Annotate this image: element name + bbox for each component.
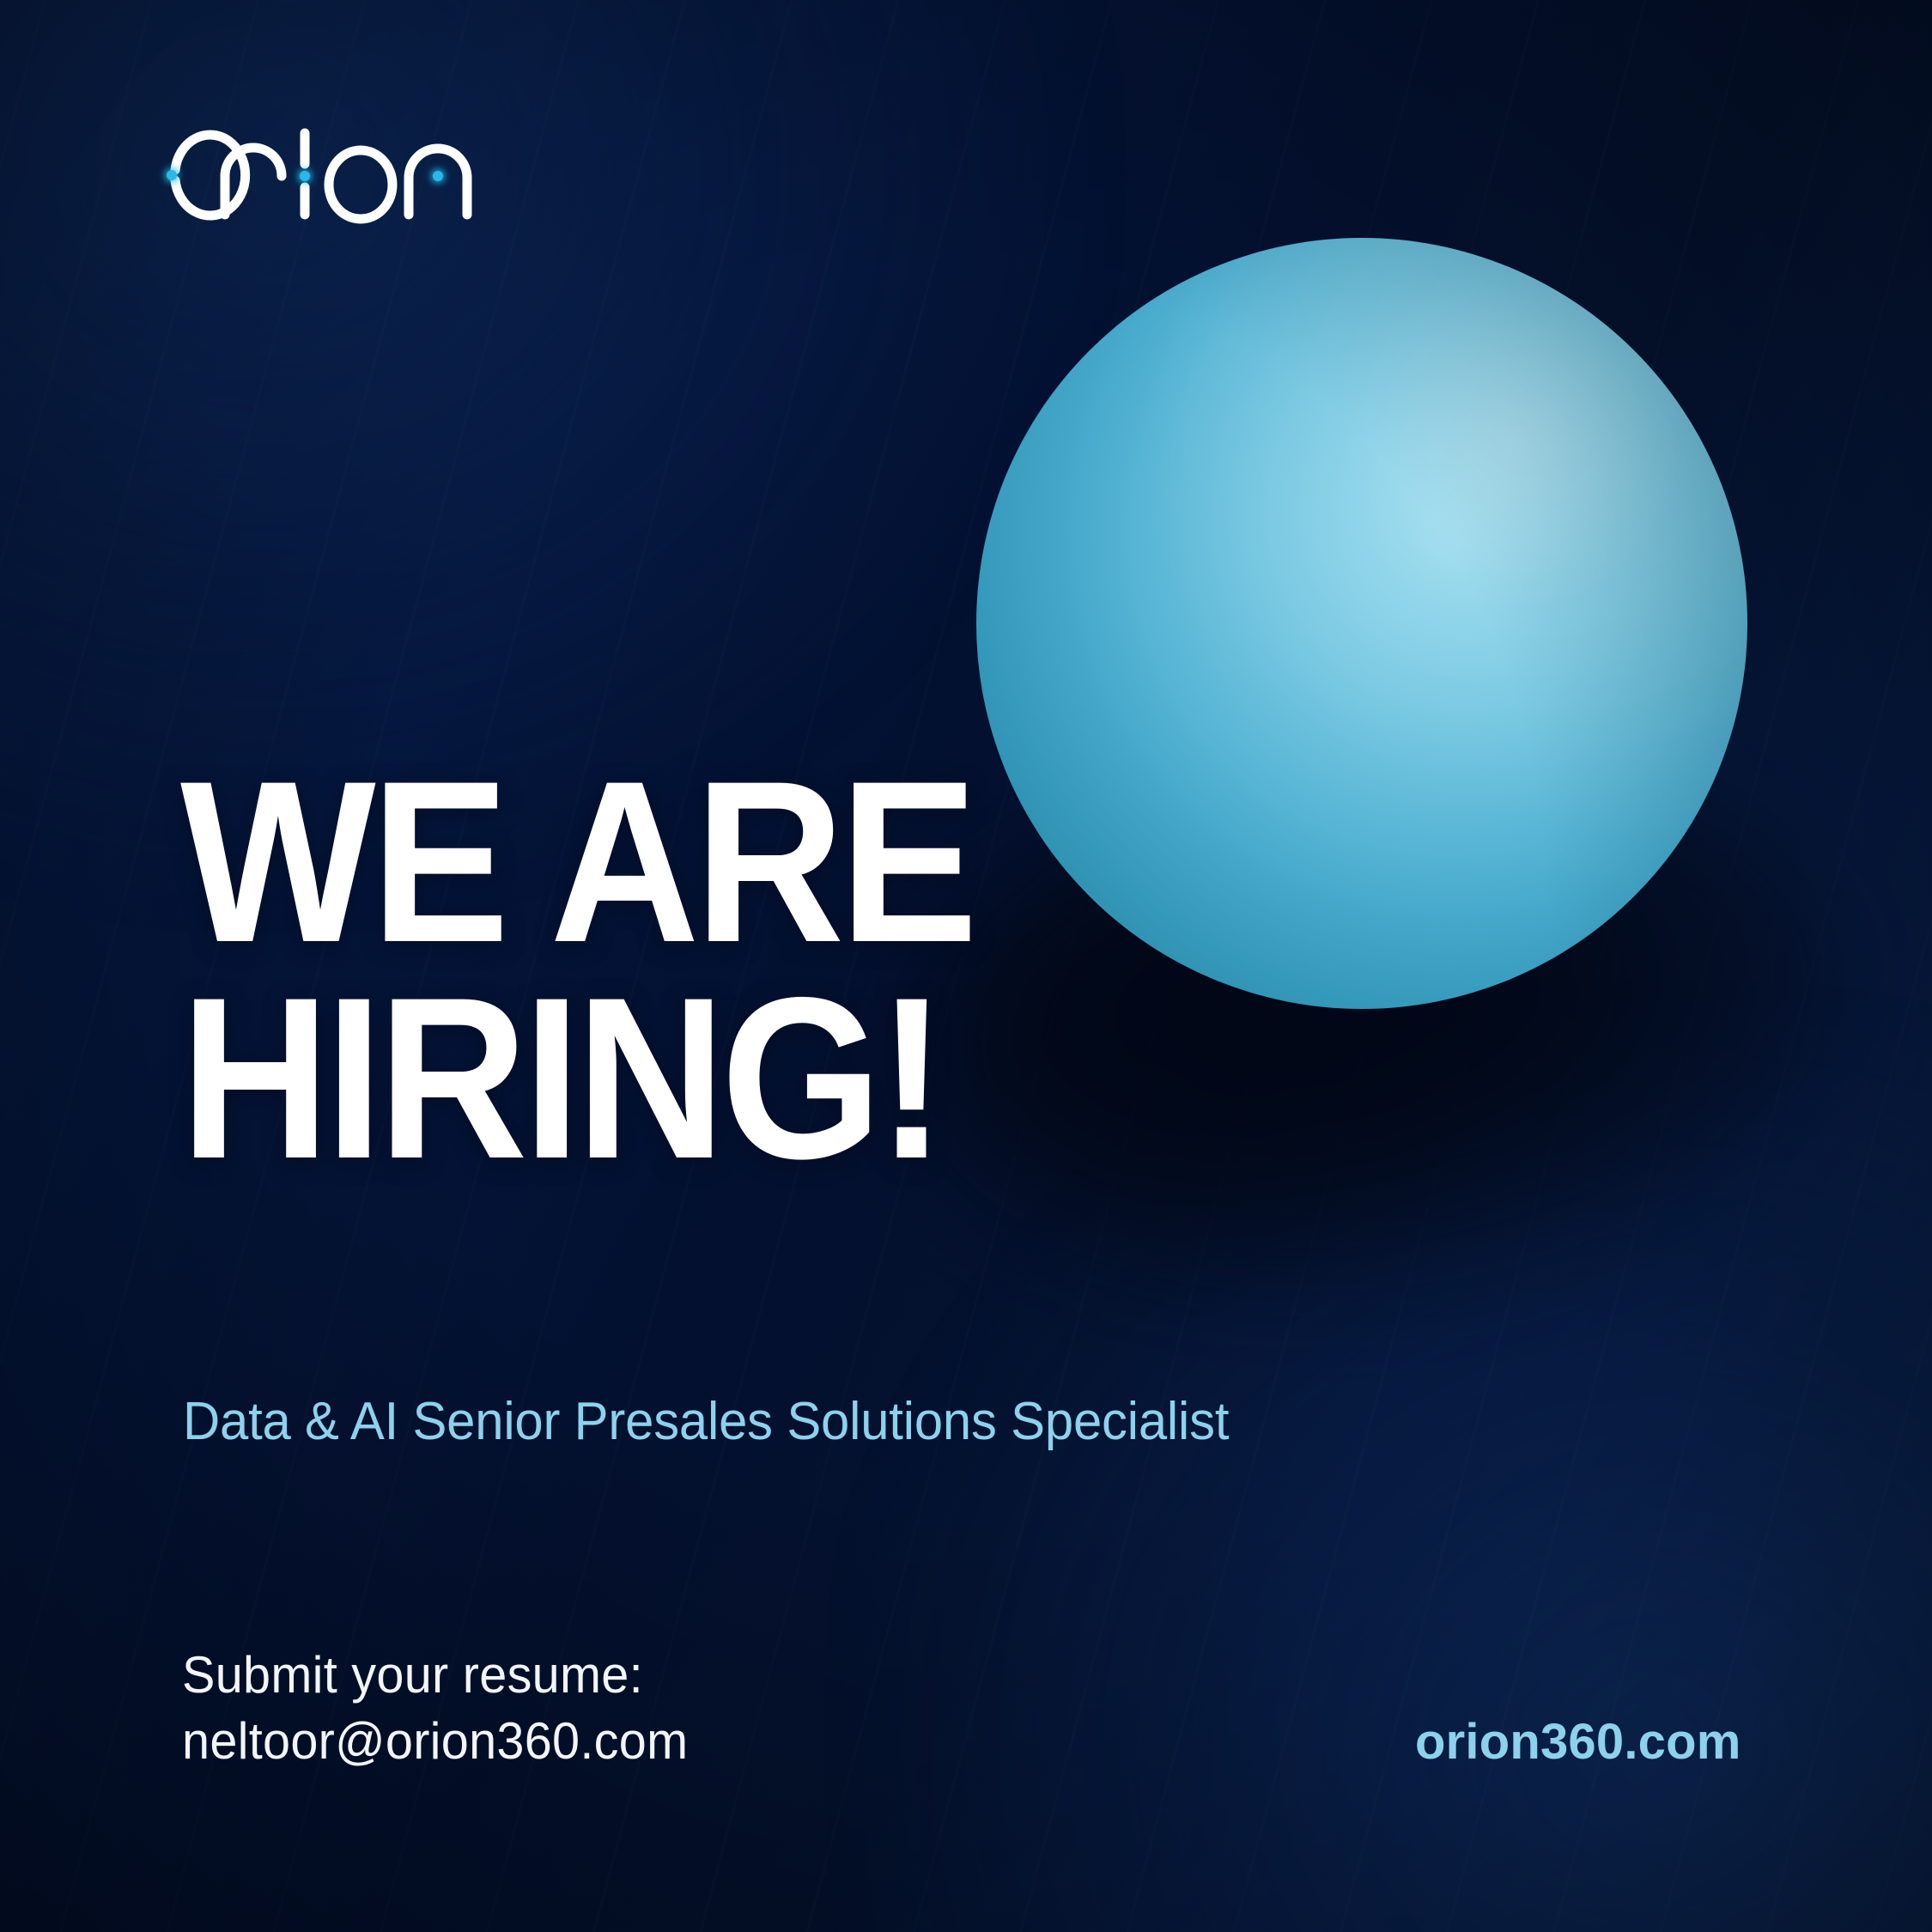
logo-letter-o-2: [329, 150, 392, 219]
logo-letter-n: [409, 149, 467, 215]
hiring-poster: WE ARE HIRING! Data & AI Senior Presales…: [0, 0, 1932, 1932]
headline-line-2: HIRING!: [180, 970, 1262, 1187]
contact-email[interactable]: neltoor@orion360.com: [182, 1709, 688, 1775]
resume-prompt: Submit your resume:: [182, 1643, 688, 1709]
logo-dot-i-icon: [300, 171, 310, 181]
logo-dot-o-icon: [167, 170, 177, 180]
orion-logo[interactable]: [131, 110, 491, 222]
logo-letter-o-1: [175, 135, 246, 216]
logo-dot-n-icon: [433, 171, 443, 181]
website-url[interactable]: orion360.com: [1415, 1713, 1741, 1771]
contact-block: Submit your resume: neltoor@orion360.com: [182, 1643, 688, 1775]
headline-line-1: WE ARE: [180, 754, 1262, 970]
job-title: Data & AI Senior Presales Solutions Spec…: [183, 1391, 1229, 1452]
logo-accent-dots: [167, 170, 443, 181]
page-title: WE ARE HIRING!: [180, 754, 1262, 1187]
